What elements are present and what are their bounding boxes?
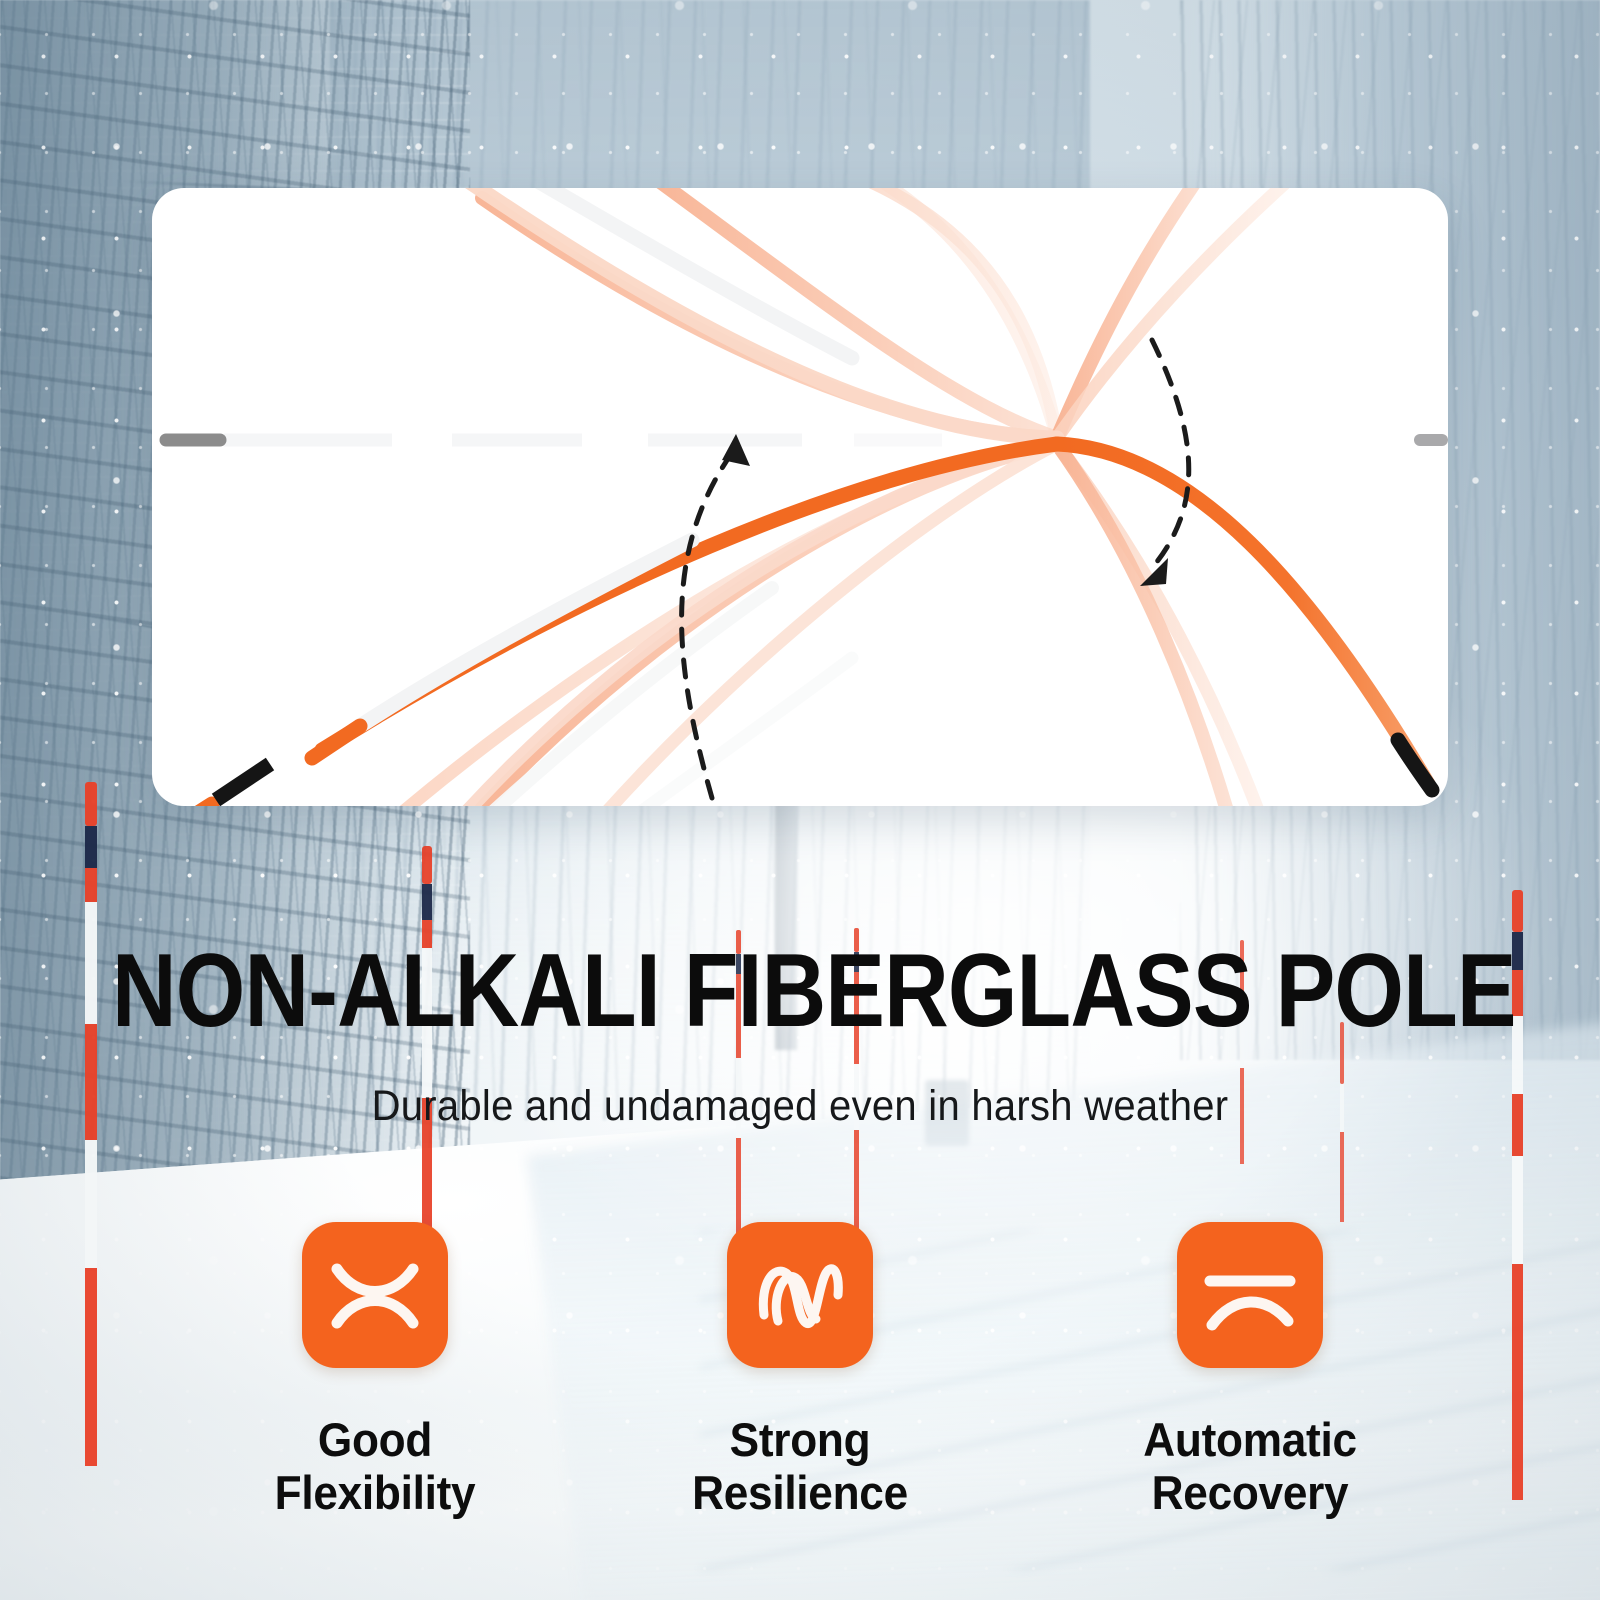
feature-label-recovery: Automatic Recovery <box>1109 1414 1391 1519</box>
product-demo-card <box>152 188 1448 806</box>
feature-row: Good Flexibility Strong Resilience <box>0 1222 1600 1582</box>
spring-coil-glyph <box>748 1243 852 1347</box>
feature-line2: Flexibility <box>234 1467 516 1520</box>
feature-line1: Strong <box>659 1414 941 1467</box>
feature-strong-resilience[interactable]: Strong Resilience <box>650 1222 950 1519</box>
flex-curve-icon <box>302 1222 448 1368</box>
page-subtitle: Durable and undamaged even in harsh weat… <box>56 1082 1544 1131</box>
feature-line2: Recovery <box>1109 1467 1391 1520</box>
flex-curve-glyph <box>323 1243 427 1347</box>
feature-line1: Good <box>234 1414 516 1467</box>
straighten-bar-icon <box>1177 1222 1323 1368</box>
feature-line1: Automatic <box>1109 1414 1391 1467</box>
feature-label-flexibility: Good Flexibility <box>234 1414 516 1519</box>
feature-automatic-recovery[interactable]: Automatic Recovery <box>1100 1222 1400 1519</box>
spring-coil-icon <box>727 1222 873 1368</box>
poster-canvas: NON-ALKALI FIBERGLASS POLE Durable and u… <box>0 0 1600 1600</box>
page-title: NON-ALKALI FIBERGLASS POLE <box>112 938 1488 1044</box>
straighten-bar-glyph <box>1198 1243 1302 1347</box>
pole-flex-illustration <box>152 188 1448 806</box>
feature-label-resilience: Strong Resilience <box>659 1414 941 1519</box>
feature-line2: Resilience <box>659 1467 941 1520</box>
card-clip-region <box>152 188 1448 806</box>
feature-good-flexibility[interactable]: Good Flexibility <box>225 1222 525 1519</box>
